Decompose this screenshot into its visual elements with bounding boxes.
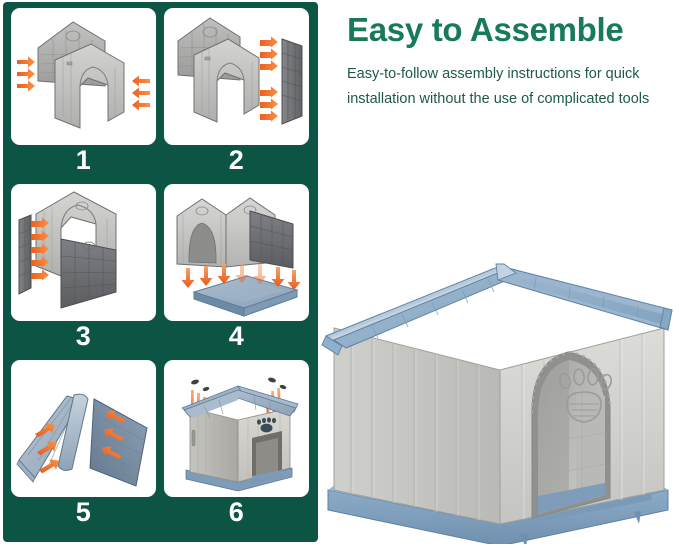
side-wall-attach-icon <box>164 8 309 145</box>
assembly-step-card <box>11 8 156 145</box>
assembly-step-number: 3 <box>11 321 156 352</box>
assembly-step-card <box>11 184 156 321</box>
assembly-step-2: 2 <box>164 8 309 176</box>
product-hero-image <box>320 228 676 544</box>
assembly-step-card <box>11 360 156 497</box>
assembly-step-number: 4 <box>164 321 309 352</box>
assembly-step-number: 1 <box>11 145 156 176</box>
assembly-step-4: 4 <box>164 184 309 352</box>
infographic-root: 1 <box>0 0 679 550</box>
base-floor-attach-icon <box>164 184 309 321</box>
assembly-step-card <box>164 360 309 497</box>
assembly-steps-grid: 1 <box>11 8 310 536</box>
page-description: Easy-to-follow assembly instructions for… <box>347 62 659 112</box>
assembly-step-card <box>164 184 309 321</box>
assembly-step-number: 5 <box>11 497 156 528</box>
assembled-dog-house-icon <box>164 360 309 497</box>
assembly-steps-panel: 1 <box>3 2 318 542</box>
assembly-step-3: 3 <box>11 184 156 352</box>
page-title: Easy to Assemble <box>347 12 667 48</box>
assembly-step-6: 6 <box>164 360 309 528</box>
second-side-wall-attach-icon <box>11 184 156 321</box>
two-wall-panels-join-icon <box>11 8 156 145</box>
assembly-step-number: 2 <box>164 145 309 176</box>
assembly-step-5: 5 <box>11 360 156 528</box>
assembly-step-number: 6 <box>164 497 309 528</box>
assembly-step-1: 1 <box>11 8 156 176</box>
assembly-step-card <box>164 8 309 145</box>
roof-panels-join-icon <box>11 360 156 497</box>
